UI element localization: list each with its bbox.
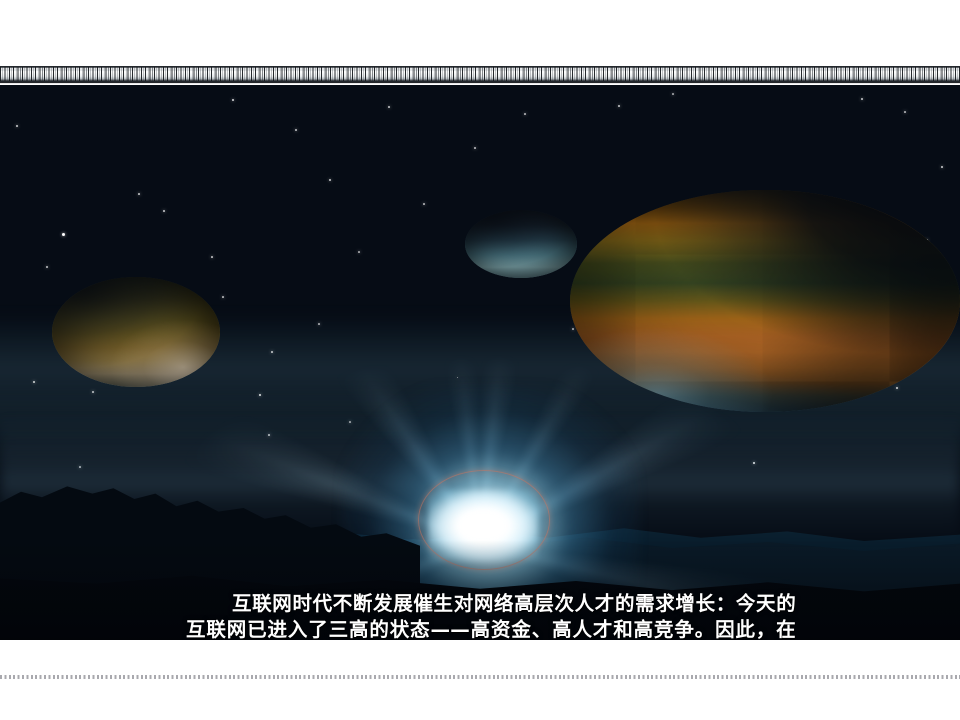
night-sky-image: 互联网时代不断发展催生对网络高层次人才的需求增长：今天的互联网已进入了三高的状态… [0, 85, 960, 640]
star-icon [474, 147, 476, 149]
star-icon [92, 391, 94, 393]
star-icon [46, 266, 48, 268]
star-icon [138, 193, 140, 195]
star-icon [62, 233, 65, 236]
presentation-slide: 互联网时代不断发展催生对网络高层次人才的需求增长：今天的互联网已进入了三高的状态… [0, 0, 960, 720]
star-icon [232, 99, 234, 101]
slide-body-paragraph: 互联网时代不断发展催生对网络高层次人才的需求增长：今天的互联网已进入了三高的状态… [186, 591, 796, 641]
ribbed-band-hairline-top [0, 66, 960, 67]
star-icon [618, 105, 620, 107]
star-icon [329, 179, 331, 181]
star-icon [388, 106, 390, 108]
dotted-divider-line [0, 675, 960, 679]
star-icon [423, 203, 425, 205]
star-icon [211, 256, 213, 258]
ribbed-band-hairline-bottom [0, 81, 960, 82]
star-icon [904, 111, 906, 113]
star-icon [941, 166, 943, 168]
star-icon [672, 93, 674, 95]
planet-mid-shadow [465, 210, 577, 278]
star-icon [163, 210, 165, 212]
star-icon [358, 251, 360, 253]
star-icon [33, 381, 35, 383]
star-icon [861, 98, 863, 100]
star-icon [318, 323, 320, 325]
star-icon [16, 125, 18, 127]
star-icon [524, 113, 526, 115]
star-icon [222, 296, 224, 298]
star-icon [295, 129, 297, 131]
star-icon [896, 387, 898, 389]
star-icon [572, 328, 574, 330]
